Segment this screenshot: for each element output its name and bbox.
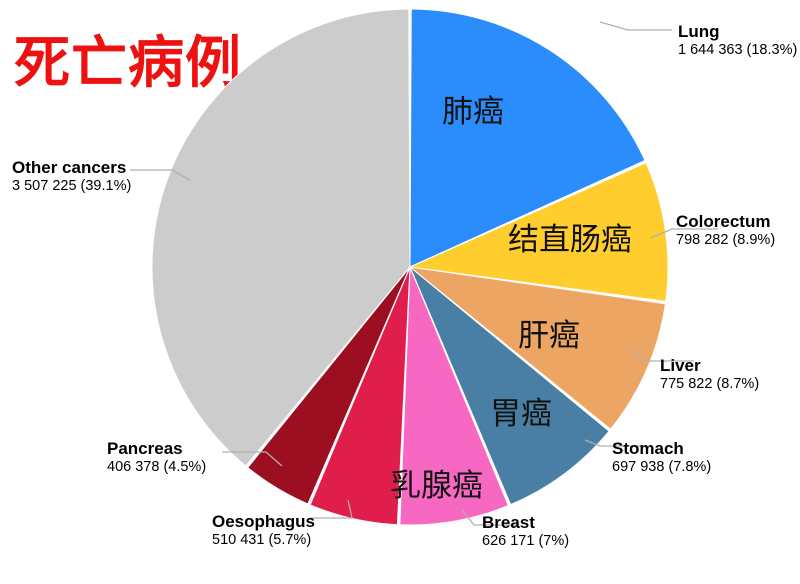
pie-slices bbox=[152, 9, 668, 525]
callout-other-cancers-value: 3 507 225 (39.1%) bbox=[12, 178, 131, 195]
pie-chart-page: 死亡病例 肺癌 结直肠癌 肝癌 胃癌 乳腺癌 bbox=[0, 0, 800, 584]
slice-label-breast-cn: 乳腺癌 bbox=[390, 468, 483, 504]
callout-colorectum: Colorectum 798 282 (8.9%) bbox=[676, 212, 775, 249]
callout-liver: Liver 775 822 (8.7%) bbox=[660, 356, 759, 393]
callout-stomach: Stomach 697 938 (7.8%) bbox=[612, 439, 711, 476]
callout-breast: Breast 626 171 (7%) bbox=[482, 513, 569, 550]
slice-label-liver-cn: 肝癌 bbox=[518, 318, 580, 354]
callout-pancreas: Pancreas 406 378 (4.5%) bbox=[107, 439, 206, 476]
callout-liver-value: 775 822 (8.7%) bbox=[660, 376, 759, 393]
callout-other-cancers-name: Other cancers bbox=[12, 158, 131, 178]
callout-oesophagus: Oesophagus 510 431 (5.7%) bbox=[212, 512, 315, 549]
callout-pancreas-name: Pancreas bbox=[107, 439, 206, 459]
callout-stomach-value: 697 938 (7.8%) bbox=[612, 459, 711, 476]
callout-breast-name: Breast bbox=[482, 513, 569, 533]
leader-line-lung bbox=[600, 22, 672, 30]
callout-breast-value: 626 171 (7%) bbox=[482, 533, 569, 550]
slice-label-stomach-cn: 胃癌 bbox=[490, 396, 552, 432]
callout-liver-name: Liver bbox=[660, 356, 759, 376]
callout-colorectum-name: Colorectum bbox=[676, 212, 775, 232]
callout-pancreas-value: 406 378 (4.5%) bbox=[107, 459, 206, 476]
slice-label-lung-cn: 肺癌 bbox=[442, 94, 504, 130]
callout-lung-name: Lung bbox=[678, 22, 797, 42]
callout-stomach-name: Stomach bbox=[612, 439, 711, 459]
callout-oesophagus-value: 510 431 (5.7%) bbox=[212, 532, 315, 549]
callout-oesophagus-name: Oesophagus bbox=[212, 512, 315, 532]
callout-lung-value: 1 644 363 (18.3%) bbox=[678, 42, 797, 59]
callout-lung: Lung 1 644 363 (18.3%) bbox=[678, 22, 797, 59]
slice-label-colorectum-cn: 结直肠癌 bbox=[508, 222, 632, 258]
callout-colorectum-value: 798 282 (8.9%) bbox=[676, 232, 775, 249]
pie-chart: 肺癌 结直肠癌 肝癌 胃癌 乳腺癌 bbox=[0, 0, 800, 584]
callout-other-cancers: Other cancers 3 507 225 (39.1%) bbox=[12, 158, 131, 195]
